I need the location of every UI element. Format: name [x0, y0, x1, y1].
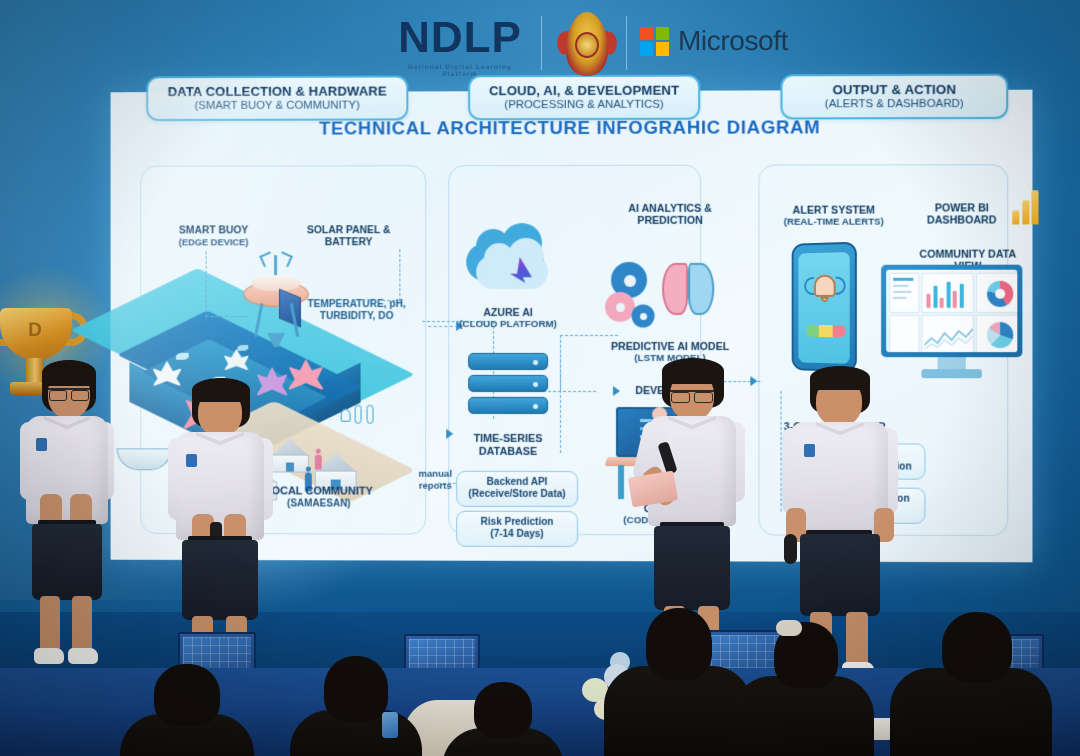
school-badge [186, 454, 197, 467]
connector-solar-label [353, 249, 401, 301]
microsoft-squares-icon [640, 27, 669, 56]
uniform-shorts [800, 534, 880, 616]
audience-member [728, 622, 878, 756]
status-red [832, 325, 845, 337]
hair-clip [776, 620, 802, 636]
seal-inner-emblem [575, 32, 599, 58]
hair-front [192, 378, 250, 402]
bell-wave-left [804, 277, 814, 295]
thai-ministry-seal-icon [556, 10, 618, 80]
dashboard-screen [886, 270, 1017, 352]
uniform-shorts [32, 524, 102, 600]
audience-member [282, 656, 428, 756]
audience-member [112, 664, 258, 756]
hair-front [42, 360, 96, 386]
attendee-phone [382, 712, 398, 738]
sidebar-row [893, 291, 911, 293]
connector-buoy-label [206, 251, 248, 317]
head [324, 656, 388, 722]
head [646, 608, 712, 680]
buoy-antenna-left [259, 251, 275, 267]
chip-line-2: (7-14 Days) [461, 529, 573, 541]
gear-hub [624, 275, 636, 287]
boat-icon [117, 448, 172, 470]
ms-square-blue [640, 42, 653, 55]
smartphone-alert-icon [792, 242, 857, 372]
bar [953, 291, 957, 308]
head [154, 664, 220, 726]
buoy-leg-left [254, 303, 263, 337]
bar [940, 298, 944, 308]
ms-square-yellow [656, 42, 669, 55]
hair-front [662, 358, 724, 384]
label-text: AZURE AI [483, 307, 533, 319]
head [474, 682, 532, 738]
line-series [924, 325, 972, 351]
leg-right [72, 596, 92, 654]
label-power-bi-dashboard: POWER BI DASHBOARD [909, 202, 1014, 227]
chip-backend-api: Backend API (Receive/Store Data) [456, 471, 578, 508]
pbi-bar [1022, 200, 1029, 224]
villager-icon [315, 455, 322, 470]
ai-analytics-icon [608, 259, 718, 335]
phone-screen [798, 252, 849, 364]
azure-cloud-icon [460, 239, 552, 301]
chip-risk-prediction: Risk Prediction (7-14 Days) [456, 511, 578, 548]
logo-divider-right [626, 16, 627, 70]
label-water-parameters: TEMPERATURE, pH, TURBIDITY, DO [297, 299, 416, 323]
ms-square-green [656, 27, 669, 40]
label-text: ALERT SYSTEM [793, 205, 875, 217]
label-ai-analytics: AI ANALYTICS & PREDICTION [606, 203, 734, 228]
event-logo-bar: NDLP National Digital Learning Platform … [0, 0, 1080, 92]
ms-square-red [640, 27, 653, 40]
chip-line-1: Risk Prediction [461, 517, 573, 529]
shoe-right [68, 648, 98, 664]
bar [959, 284, 963, 308]
brain-right-hemisphere-icon [688, 263, 714, 315]
uniform-shorts [654, 526, 730, 610]
database-layer [468, 353, 548, 370]
buoy-antenna-right [277, 251, 293, 267]
school-badge [804, 444, 815, 457]
ndlp-tagline: National Digital Learning Platform [392, 64, 528, 78]
uniform-shirt [26, 416, 108, 524]
head [942, 612, 1012, 682]
trophy-engraving: D [4, 320, 68, 342]
dashboard-monitor-icon [881, 265, 1022, 382]
label-subtext: (CLOUD PLATFORM) [452, 319, 564, 330]
sidebar-row [893, 278, 913, 281]
school-badge [36, 438, 47, 451]
gear-hub [640, 313, 647, 320]
fish-icon [176, 353, 189, 360]
dashboard-legend [889, 315, 919, 352]
chip-line-2: (Receive/Store Data) [461, 489, 573, 501]
gear-hub [616, 303, 625, 312]
label-smart-buoy: SMART BUOY (EDGE DEVICE) [154, 225, 273, 248]
presenter-1 [14, 360, 120, 680]
bar [946, 282, 950, 308]
dashboard-bar-chart [921, 273, 973, 313]
sidebar-row [893, 285, 908, 287]
dashboard-donut-chart [976, 273, 1017, 313]
arrow-to-output-icon [750, 376, 757, 386]
bell-wave-right [836, 277, 846, 295]
bar [926, 294, 930, 308]
label-solar-panel: SOLAR PANEL & BATTERY [287, 225, 410, 249]
dashboard-pie-chart [976, 315, 1017, 352]
label-text: LOCAL COMMUNITY [265, 485, 373, 497]
dashboard-line-chart [921, 315, 973, 352]
label-subtext: (EDGE DEVICE) [154, 237, 273, 248]
cloud-front-shape [476, 255, 548, 289]
alert-status-pill [806, 325, 846, 338]
section-subtitle: (PROCESSING & ANALYTICS) [474, 99, 694, 112]
logo-divider-left [541, 16, 542, 70]
pbi-bar [1031, 190, 1038, 224]
label-alert-system: ALERT SYSTEM (REAL-TIME ALERTS) [768, 205, 899, 229]
bell-icon [814, 275, 836, 297]
desk-leg-left [618, 465, 624, 499]
database-layer [468, 375, 548, 392]
donut-hole [995, 289, 1005, 299]
chip-line-1: Backend API [461, 477, 573, 489]
bar [933, 286, 937, 308]
section-subtitle: (SMART BUOY & COMMUNITY) [152, 99, 402, 112]
label-azure-ai: AZURE AI (CLOUD PLATFORM) [452, 307, 564, 331]
audience-member [438, 682, 568, 756]
buoy-sensor-anchor [267, 333, 285, 347]
label-time-series-database: TIME-SERIES DATABASE [452, 433, 564, 458]
glasses-icon [48, 388, 90, 397]
microsoft-logo: Microsoft [640, 25, 788, 57]
hair-front [810, 366, 870, 390]
bell-clapper [821, 297, 829, 302]
buoy-deck [251, 275, 301, 291]
ndlp-logo: NDLP National Digital Learning Platform [392, 16, 528, 78]
microsoft-wordmark: Microsoft [678, 25, 788, 57]
house-door [286, 462, 295, 471]
pbi-bar [1012, 210, 1019, 224]
time-series-database-icon [468, 353, 548, 427]
shoe-left [34, 648, 64, 664]
monitor-base [921, 369, 982, 378]
status-yellow [819, 325, 832, 337]
database-layer [468, 397, 548, 414]
label-subtext: (REAL-TIME ALERTS) [768, 217, 899, 228]
pie [987, 322, 1013, 348]
microphone-icon [784, 534, 797, 564]
audience-member [886, 612, 1056, 756]
label-text: PREDICTIVE AI MODEL [611, 341, 729, 353]
dashboard-sidebar [889, 273, 919, 313]
label-text: SMART BUOY [179, 225, 248, 236]
sidebar-row [893, 297, 906, 299]
uniform-shorts [182, 540, 258, 620]
glasses-icon [670, 390, 714, 399]
do-sensor-icon [341, 409, 351, 422]
section-subtitle: (ALERTS & DASHBOARD) [787, 98, 1003, 111]
ndlp-acronym: NDLP [392, 16, 528, 60]
thermometer-icon [355, 405, 362, 424]
bar-group [926, 280, 963, 308]
leg-left [40, 596, 60, 654]
power-bi-icon [1012, 190, 1042, 224]
body [732, 676, 874, 756]
turbidity-probe-icon [367, 405, 374, 424]
status-green [806, 325, 819, 337]
brain-left-hemisphere-icon [662, 263, 688, 315]
house-roof [271, 439, 309, 457]
